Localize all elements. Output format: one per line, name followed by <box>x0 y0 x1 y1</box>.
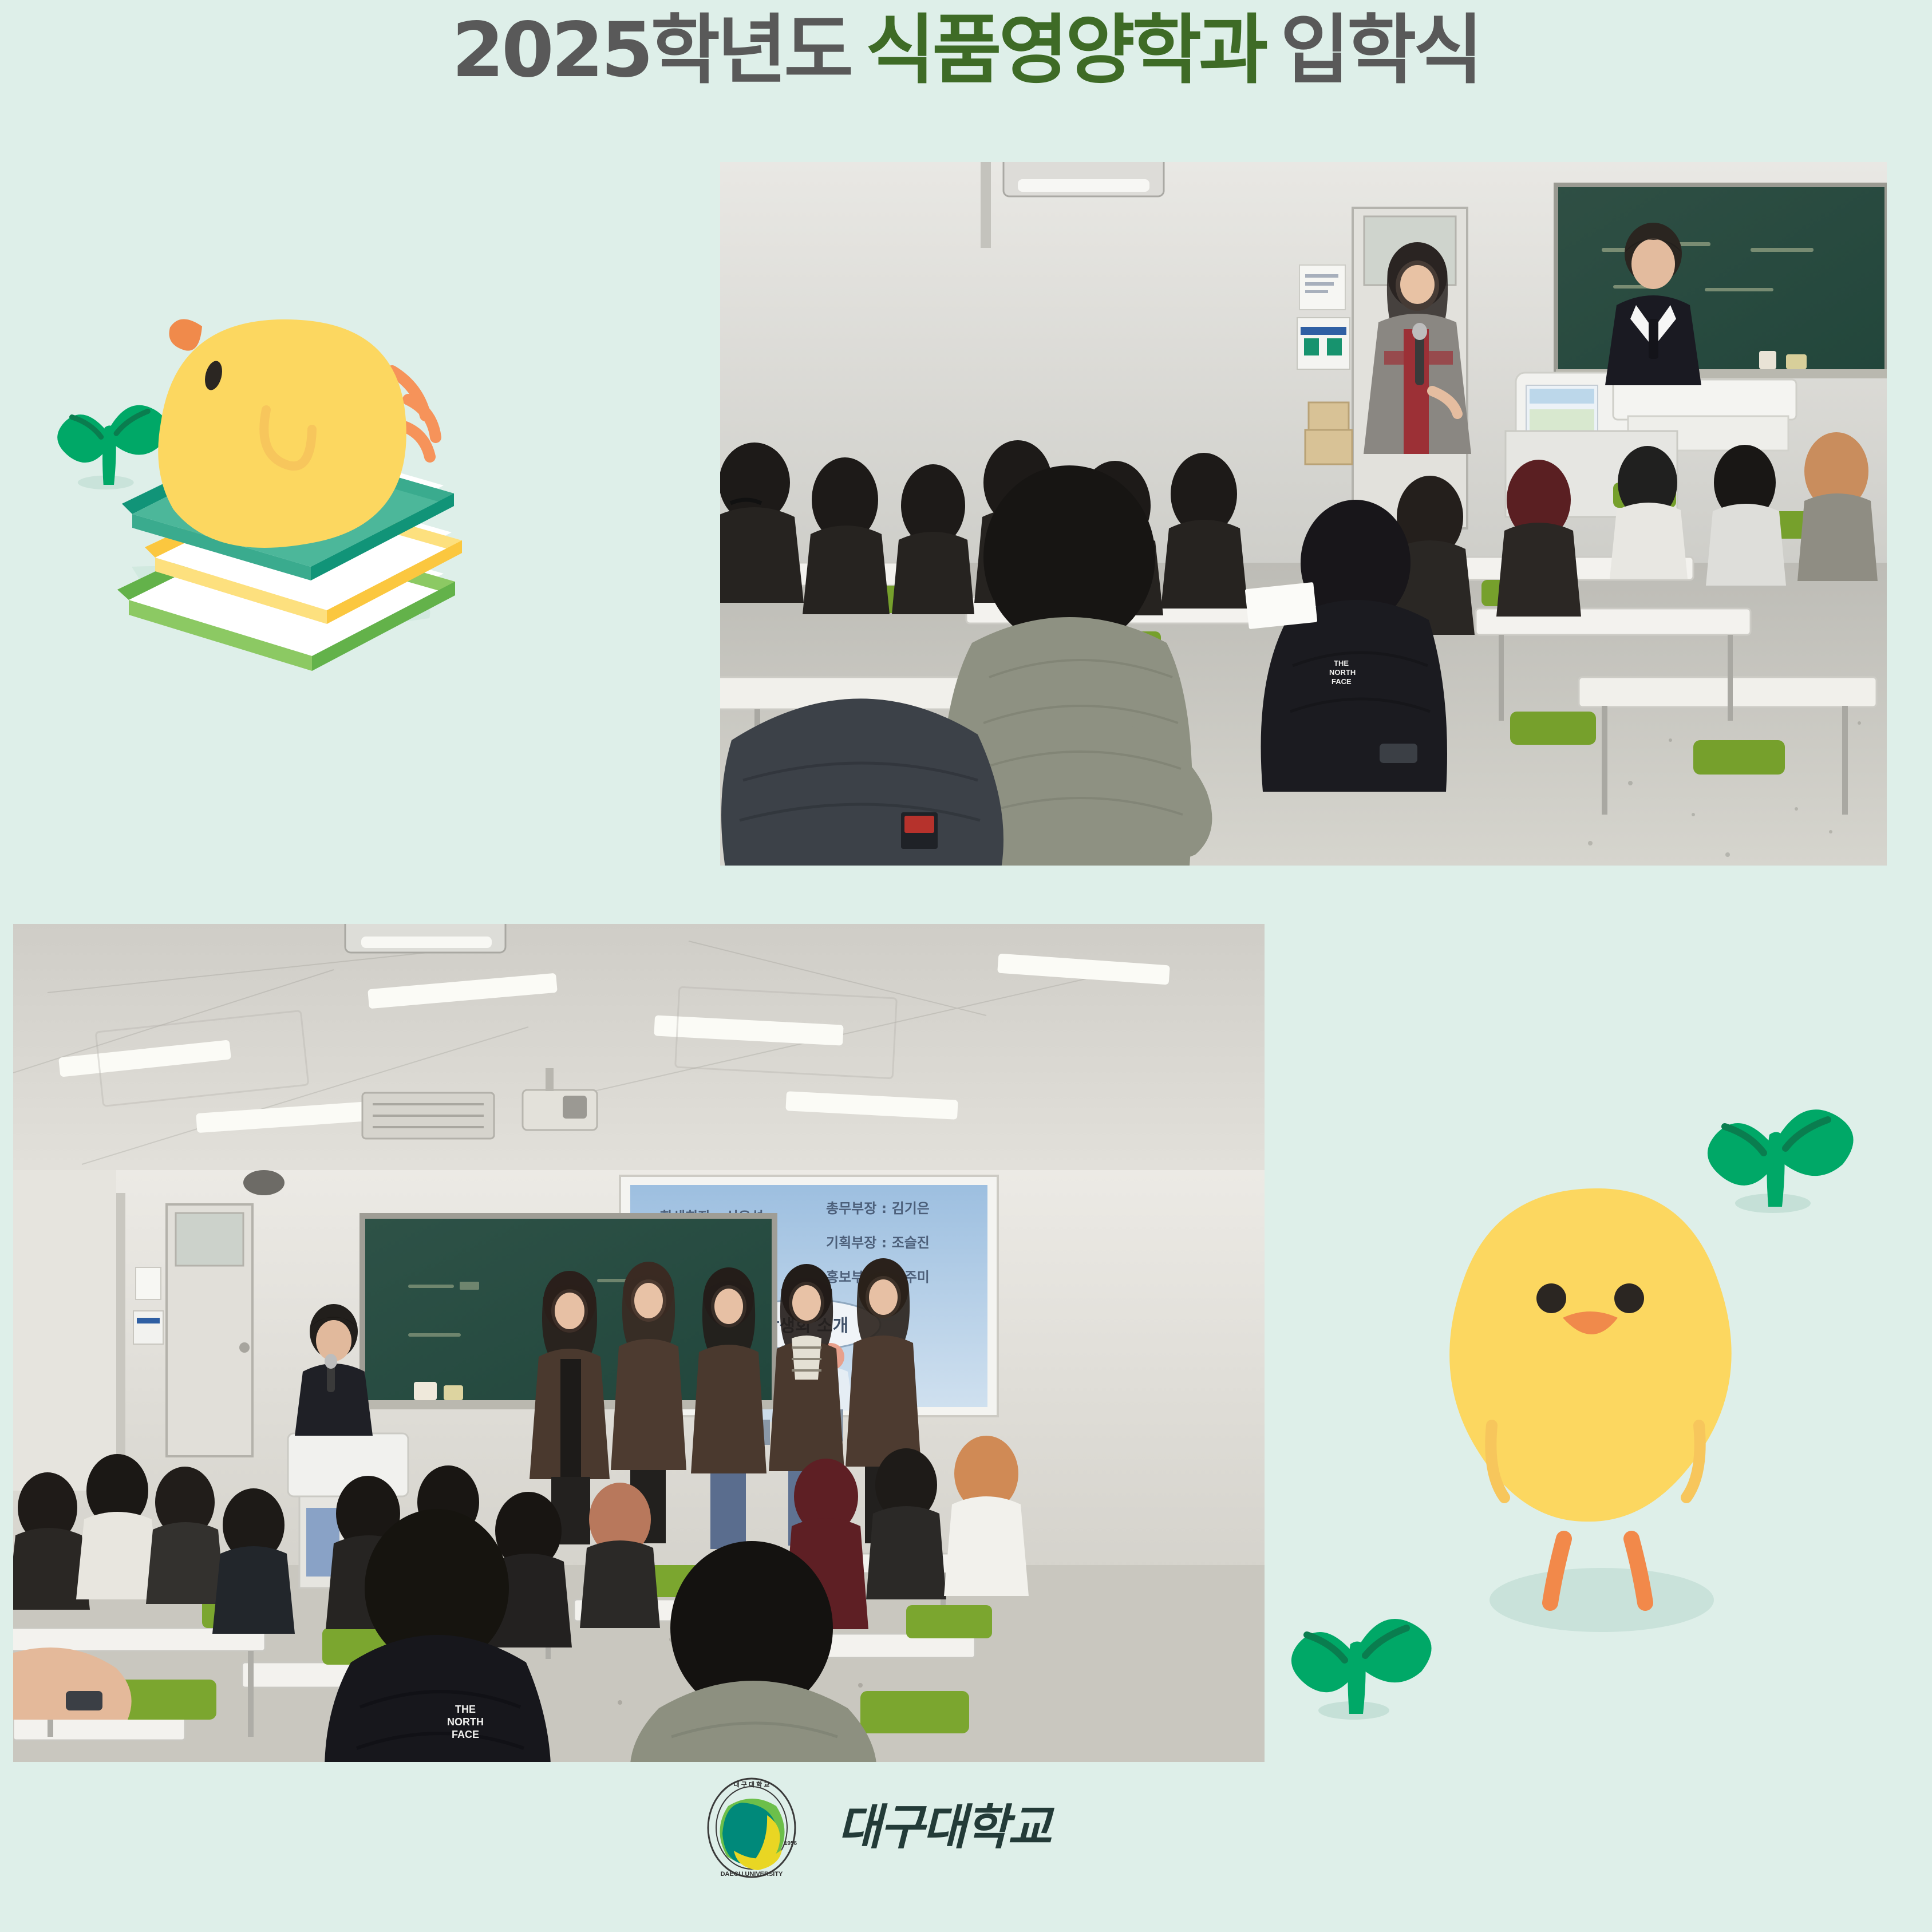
svg-text:THE: THE <box>455 1704 476 1715</box>
svg-text:기획부장 : 조슬진: 기획부장 : 조슬진 <box>826 1235 930 1251</box>
logo-emblem: 대 구 대 학 교 DAEGU UNIVERSITY 1956 <box>708 1779 797 1878</box>
emblem-year: 1956 <box>784 1840 797 1847</box>
poster-canvas: 2025학년도식품영양학과입학식 <box>0 0 1932 1932</box>
chalkboard <box>1556 185 1887 378</box>
smartphone-on-desk <box>66 1691 102 1710</box>
photo-bottom-illustration: 학생회장 : 신은설 총무부장 : 김기은 총무차장 : 김효랑 기획부장 : … <box>13 924 1265 1762</box>
title-year: 2025학년도 <box>452 6 851 94</box>
sprout-icon <box>57 405 168 489</box>
chick-standing-illustration <box>1420 1168 1775 1649</box>
sprout-icon-bottom <box>1274 1586 1440 1740</box>
svg-text:총무부장 : 김기은: 총무부장 : 김기은 <box>826 1200 930 1216</box>
emblem-ring-bottom: DAEGU UNIVERSITY <box>721 1871 783 1878</box>
ceiling-light <box>1003 162 1164 196</box>
mascot-chick-standing <box>1420 1168 1775 1649</box>
title-event: 입학식 <box>1281 6 1480 94</box>
photo-top-illustration: THENORTHFACE <box>720 162 1887 866</box>
emblem-ring-top: 대 구 대 학 교 <box>734 1780 770 1788</box>
title-department: 식품영양학과 <box>866 6 1266 94</box>
daegu-university-logo: 대 구 대 학 교 DAEGU UNIVERSITY 1956 대구대학교 <box>697 1777 1098 1880</box>
svg-text:FACE: FACE <box>1332 677 1352 686</box>
sprout-illustration <box>1274 1586 1440 1740</box>
student-council-introduction-photo: 학생회장 : 신은설 총무부장 : 김기은 총무차장 : 김효랑 기획부장 : … <box>13 924 1265 1762</box>
smartphone-on-desk <box>1380 744 1417 763</box>
svg-text:THE: THE <box>1334 659 1349 667</box>
cardboard-boxes <box>1305 402 1352 464</box>
hanging-light-bar <box>345 924 505 953</box>
chick-on-books-illustration <box>49 269 524 704</box>
ceiling-speaker <box>243 1170 285 1195</box>
svg-text:NORTH: NORTH <box>447 1716 484 1728</box>
svg-text:FACE: FACE <box>452 1729 479 1740</box>
page-title: 2025학년도식품영양학과입학식 <box>0 13 1932 88</box>
logo-wordmark: 대구대학교 <box>837 1799 1054 1855</box>
svg-text:NORTH: NORTH <box>1329 668 1356 677</box>
logo-illustration: 대 구 대 학 교 DAEGU UNIVERSITY 1956 대구대학교 <box>697 1777 1098 1880</box>
wall-door <box>167 1204 252 1456</box>
classroom-welcome-ceremony-photo: THENORTHFACE <box>720 162 1887 866</box>
mascot-chick-on-books <box>49 269 524 704</box>
